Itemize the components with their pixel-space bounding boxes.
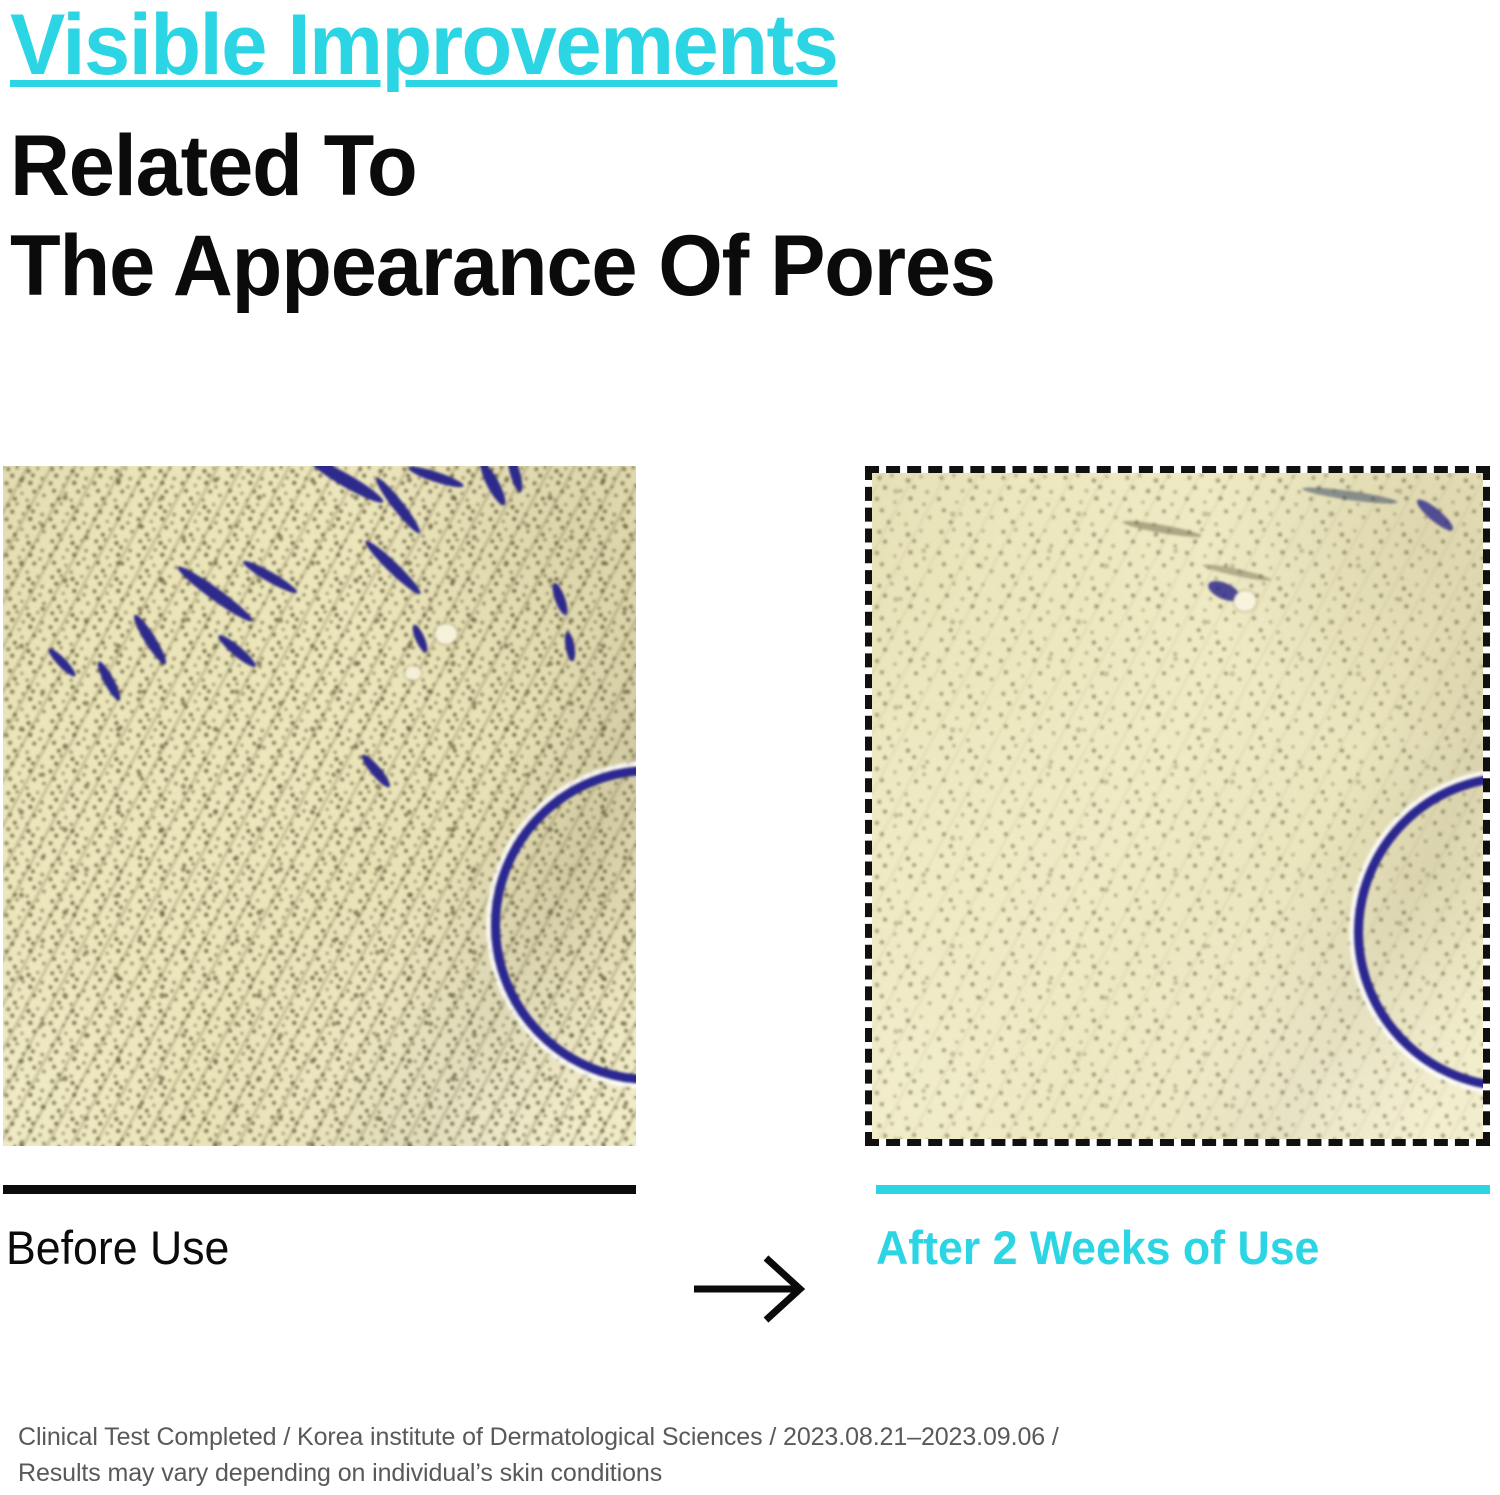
before-after-comparison [0, 466, 1500, 1146]
after-image-panel [865, 466, 1490, 1146]
skin-pores-layer-secondary [3, 466, 636, 1146]
transition-arrow-container [690, 1254, 810, 1324]
skin-macro-image-after [872, 473, 1483, 1139]
follicle-spot [405, 666, 421, 680]
headline-line-3: The Appearance Of Pores [10, 212, 1438, 320]
follicle-spot [1234, 591, 1256, 611]
after-underline-bar [876, 1185, 1490, 1194]
before-image-panel [3, 466, 636, 1146]
after-use-label: After 2 Weeks of Use [876, 1222, 1319, 1274]
footnote-line-2: Results may vary depending on individual… [18, 1456, 1418, 1492]
headline-accent-line: Visible Improvements [10, 2, 1438, 90]
headline-line-2: Related To [10, 112, 1438, 220]
right-arrow-icon [690, 1254, 810, 1324]
before-use-label: Before Use [6, 1222, 229, 1274]
skin-macro-image-before [3, 466, 636, 1146]
headline-block: Visible Improvements Related To The Appe… [10, 2, 1490, 320]
footnote-line-1: Clinical Test Completed / Korea institut… [18, 1420, 1418, 1456]
skin-pores-layer-secondary [872, 473, 1483, 1139]
follicle-spot [435, 624, 457, 644]
clinical-test-footnote: Clinical Test Completed / Korea institut… [18, 1420, 1418, 1491]
before-underline-bar [3, 1185, 636, 1194]
